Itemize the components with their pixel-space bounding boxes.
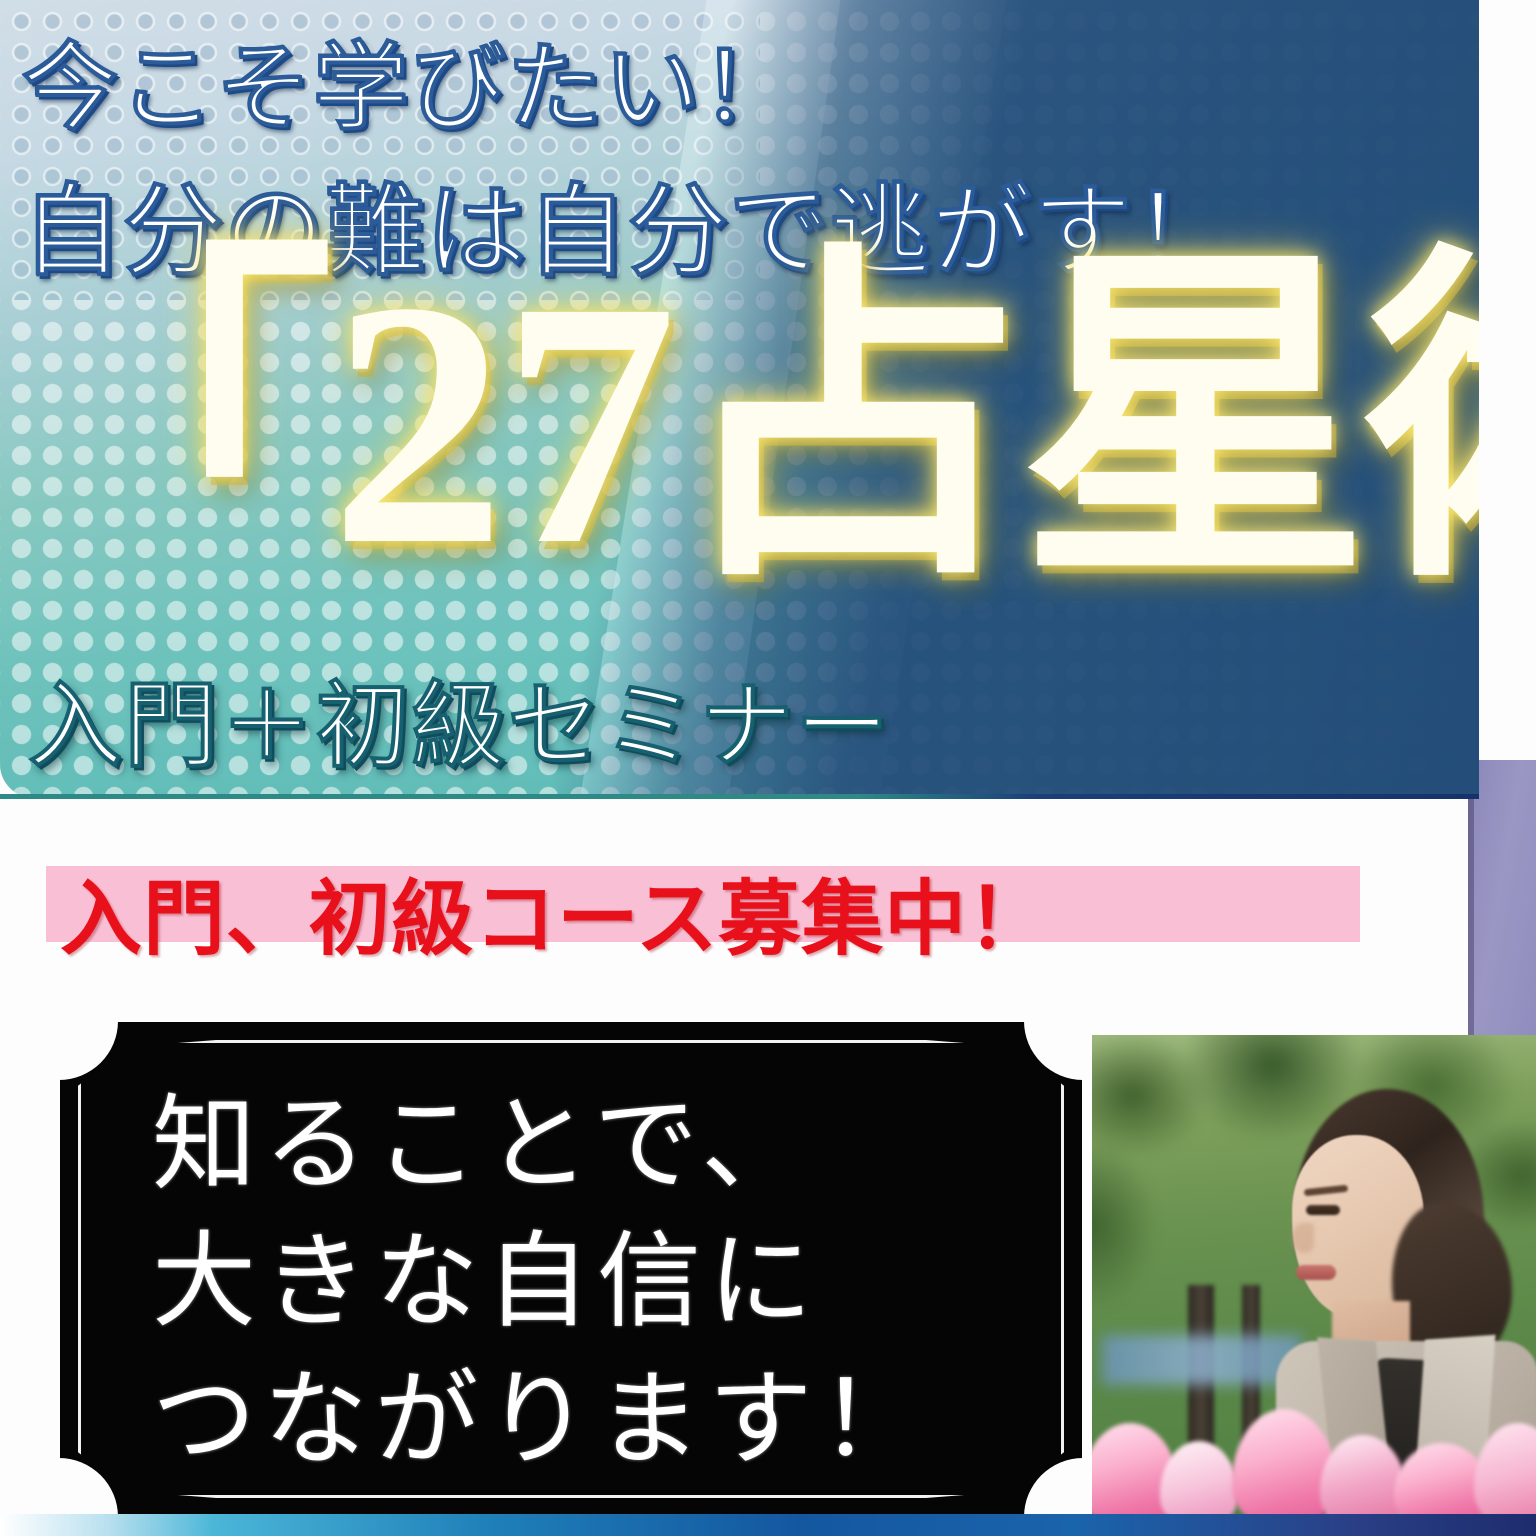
plaque-text-block: 知ることで、 大きな自信に つながります！ [152, 1076, 1032, 1488]
photo-tulip [1320, 1435, 1406, 1517]
hero-bottom-seam [0, 794, 1479, 799]
plaque-corner-top-left [0, 962, 118, 1080]
poster-root: 今こそ学びたい！ 自分の難は自分で逃がす！ 「27占星術」 入門＋初級セミナー … [0, 0, 1536, 1536]
photo-woman-eye [1306, 1205, 1340, 1215]
recruiting-banner-label: 入門、初級コース募集中！ [60, 852, 1050, 971]
photo-woman-lips [1296, 1265, 1336, 1280]
message-plaque: 知ることで、 大きな自信に つながります！ [60, 1022, 1082, 1516]
recruiting-banner: 入門、初級コース募集中！ [46, 866, 1360, 942]
plaque-line-1: 知ることで、 [152, 1076, 1032, 1213]
plaque-line-3: つながります！ [152, 1351, 1032, 1488]
plaque-line-2: 大きな自信に [152, 1213, 1032, 1350]
photo-woman-nose [1292, 1223, 1314, 1253]
photo-tulip [1160, 1441, 1238, 1517]
bottom-accent-strip [0, 1514, 1536, 1536]
photo-tulip-foreground [1092, 1387, 1536, 1517]
right-purple-strip [1468, 760, 1536, 1060]
hero-kicker-line-1: 今こそ学びたい！ [22, 10, 798, 149]
hero-text-group: 今こそ学びたい！ 自分の難は自分で逃がす！ 「27占星術」 入門＋初級セミナー [0, 0, 1479, 798]
hero-subtitle: 入門＋初級セミナー [28, 650, 891, 786]
presenter-photo [1092, 1035, 1536, 1517]
hero-main-title: 「27占星術」 [0, 252, 1479, 595]
photo-tulip [1474, 1423, 1536, 1517]
hero-banner: 今こそ学びたい！ 自分の難は自分で逃がす！ 「27占星術」 入門＋初級セミナー [0, 0, 1479, 798]
